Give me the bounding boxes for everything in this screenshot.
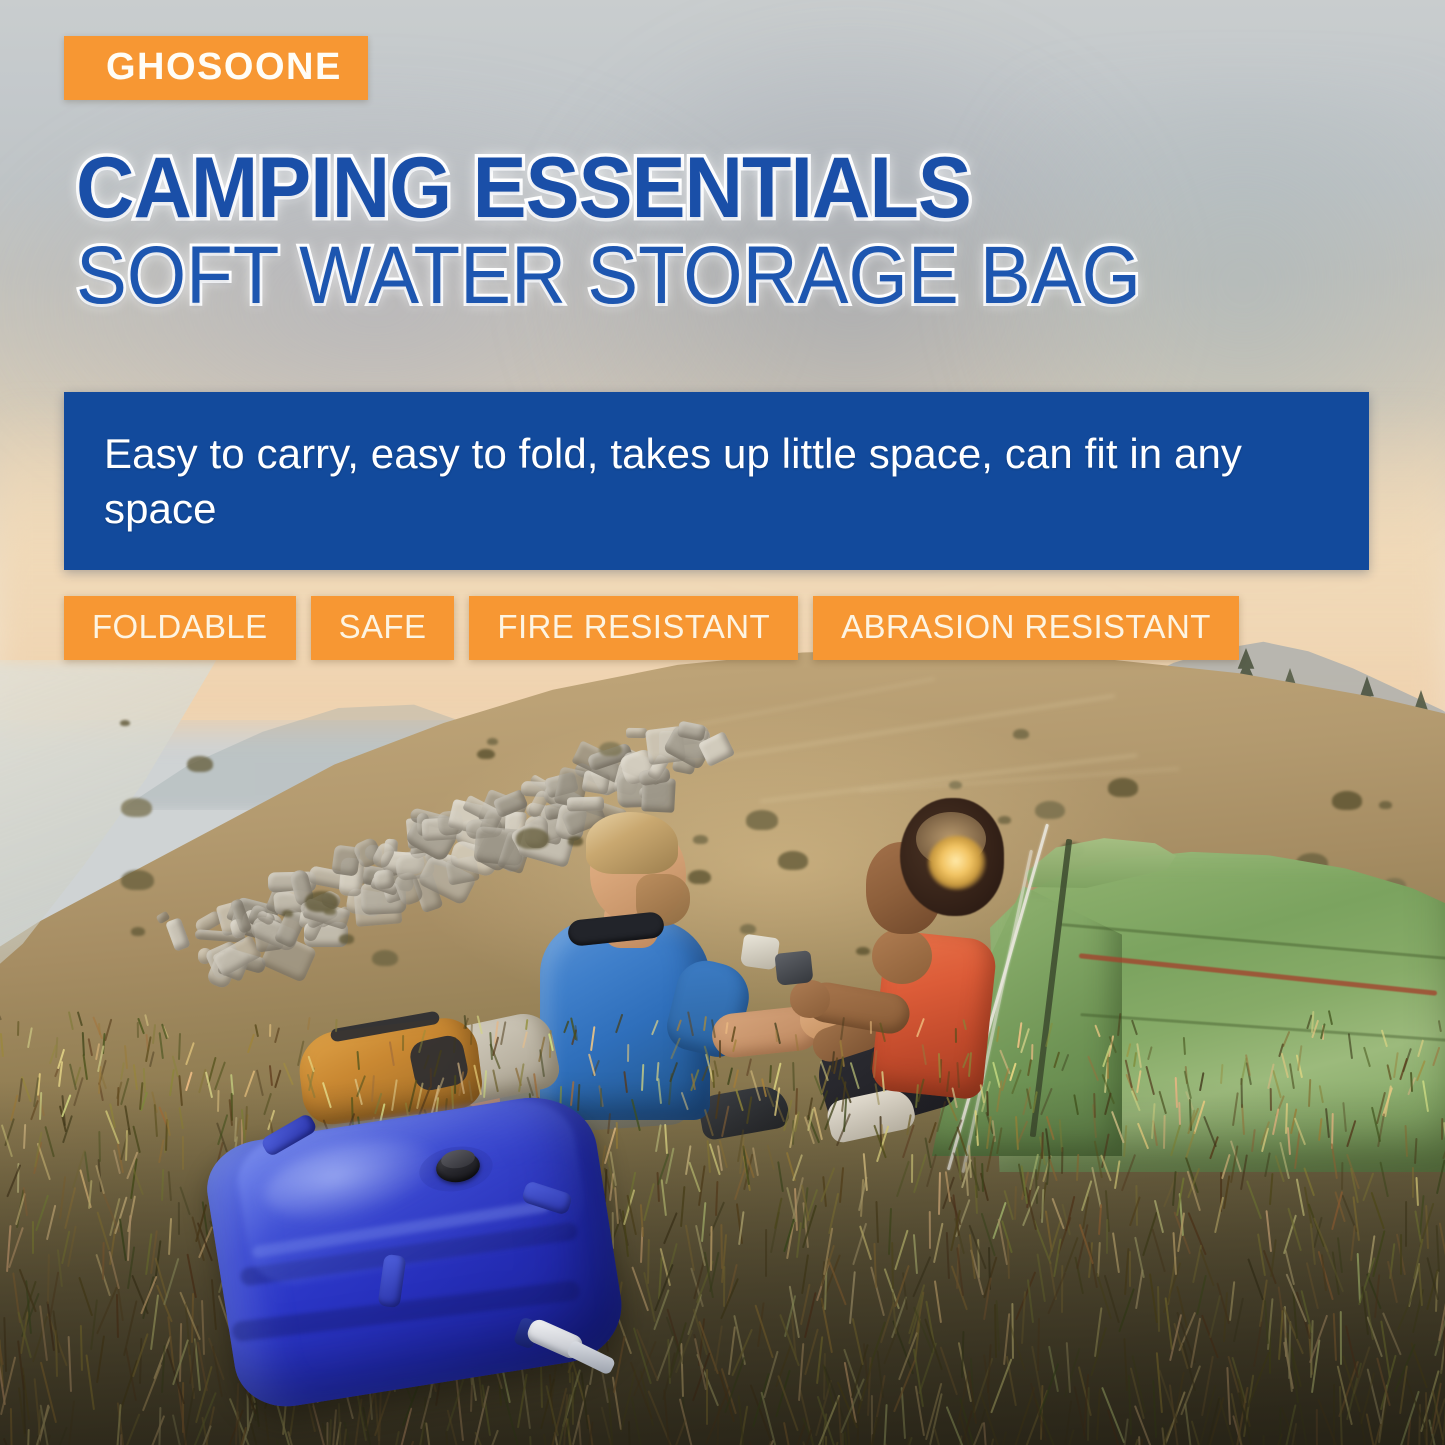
grass-blade [68,1011,74,1030]
grass-blade [525,1019,528,1031]
grass-blade [27,1027,33,1048]
grass-blade [711,1019,716,1038]
grass-blade [651,1019,659,1034]
shrub [187,756,212,772]
grass-blade [1054,1052,1061,1069]
man-hair [586,812,678,874]
shrub [372,950,399,966]
description-banner: Easy to carry, easy to fold, takes up li… [64,392,1369,570]
grass-blade [500,1022,506,1046]
grass-blade [1027,1059,1032,1076]
grass-blade [1417,1039,1424,1057]
feature-tag: FOLDABLE [64,596,296,660]
grass-blade [1348,1033,1353,1059]
grass-blade [670,1037,681,1059]
shrub [688,870,711,884]
grass-blade [83,1054,89,1080]
shrub [131,927,145,936]
brand-name: GHOSOONE [106,48,342,86]
grass-blade [795,1034,799,1051]
grass-blade [92,1017,103,1040]
grass-blade [0,1033,3,1057]
shrub [746,810,778,830]
grass-blade [922,1044,927,1065]
grass-blade [418,1030,426,1054]
grass-blade [539,1049,545,1077]
grass-blade [703,1016,707,1031]
shrub [487,738,498,745]
grass-blade [1416,1060,1426,1081]
product-banner: GHOSOONE CAMPING ESSENTIALS SOFT WATER S… [0,0,1445,1445]
grass-blade [144,1014,149,1026]
grass-blade [476,1015,482,1034]
grass-blade [453,1037,456,1053]
grass-blade [704,1045,710,1060]
sun-flare [928,836,986,890]
grass-blade [1133,1052,1137,1067]
grass-blade [356,1051,359,1070]
grass-blade [81,1032,84,1057]
water-storage-bag [205,1095,625,1425]
rock [373,869,396,890]
grass-blade [1094,1024,1101,1037]
shrub [568,836,584,846]
feature-tag: FIRE RESISTANT [469,596,798,660]
grass-blade [0,1010,2,1020]
shrub [477,749,495,760]
grass-blade [627,1044,629,1062]
grass-blade [879,1023,886,1043]
grass-blade [1387,1065,1393,1081]
grass-blade [870,1021,872,1034]
grass-blade [152,1024,156,1044]
grass-blade [873,1050,878,1078]
grass-blade [269,1024,271,1037]
grass-blade [1363,1046,1371,1067]
grass-blade [158,1032,163,1059]
grass-blade [335,1019,338,1032]
grass-blade [1131,1019,1138,1035]
shrub [121,798,152,817]
rock [626,728,648,738]
grass-blade [149,1051,155,1067]
grass-blade [962,1019,967,1030]
grass-blade [719,1039,721,1057]
shrub [282,910,292,916]
shrub [516,828,549,849]
grass-blade [274,1028,280,1044]
grass-blade [1183,1037,1186,1055]
grass-blade [88,1038,93,1056]
grass-blade [77,1011,83,1026]
brand-badge: GHOSOONE [64,36,368,100]
feature-tag-row: FOLDABLESAFEFIRE RESISTANTABRASION RESIS… [64,596,1239,660]
description-text: Easy to carry, easy to fold, takes up li… [64,426,1369,537]
shrub [693,835,707,844]
grass-blade [402,1035,404,1051]
headline-line-1: CAMPING ESSENTIALS [76,146,1152,230]
grass-blade [307,1017,311,1030]
grass-blade [916,1018,925,1037]
grass-blade [840,1017,845,1040]
grass-blade [1087,1055,1099,1080]
grass-blade [254,1024,259,1037]
grass-blade [1393,1052,1399,1078]
grass-blade [1381,1030,1388,1048]
grass-blade [1117,1013,1121,1037]
grass-blade [433,1049,442,1076]
grass-blade [1126,1043,1131,1057]
feature-tag: ABRASION RESISTANT [813,596,1239,660]
shrub [120,720,130,726]
grass-blade [185,1042,195,1065]
shrub [856,947,869,955]
shrub [949,781,962,789]
shrub [740,924,756,934]
cup [774,950,813,986]
grass-blade [307,1056,314,1073]
grass-blade [1281,1053,1289,1078]
grass-blade [1062,1054,1070,1072]
grass-blade [1320,1023,1326,1039]
grass-blade [1045,1022,1053,1047]
grass-blade [522,1031,528,1048]
grass-blade [1400,1058,1409,1081]
grass-blade [1328,1010,1333,1025]
grass-blade [120,1062,125,1080]
shrub [778,851,809,870]
shrub [1013,729,1029,739]
grass-blade [590,1026,595,1051]
shrub [599,742,622,756]
grass-blade [1021,1028,1031,1053]
grass-blade [247,1034,255,1053]
rock [567,797,605,812]
headline-line-2: SOFT WATER STORAGE BAG [76,234,1141,318]
grass-blade [389,1041,395,1066]
grass-blade [676,1020,682,1032]
grass-blade [615,1013,623,1032]
grass-blade [17,1021,19,1036]
grass-blade [297,1041,305,1067]
grass-blade [725,1022,729,1034]
grass-blade [178,1033,181,1060]
headline-block: CAMPING ESSENTIALS SOFT WATER STORAGE BA… [76,146,1221,318]
grass-blade [996,1026,1000,1042]
grass-blade [1147,1046,1153,1060]
grass-blade [968,1052,972,1077]
shrub [339,934,354,943]
grass-blade [955,1028,957,1043]
grass-blade [1136,1043,1142,1068]
grass-blade [161,1023,168,1039]
grass-blade [1432,1047,1440,1067]
woman-shoulder [872,928,932,984]
grass-blade [563,1021,569,1034]
grass-blade [470,1024,473,1045]
shrub [324,908,335,915]
grass-blade [104,1018,112,1041]
feature-tag: SAFE [311,596,455,660]
grass-blade [588,1053,596,1076]
rock [165,918,190,953]
grass-blade [687,1012,694,1037]
cup [740,934,780,971]
grass-blade [1438,1020,1442,1032]
grass-blade [1031,1044,1033,1061]
shrub [121,870,154,891]
